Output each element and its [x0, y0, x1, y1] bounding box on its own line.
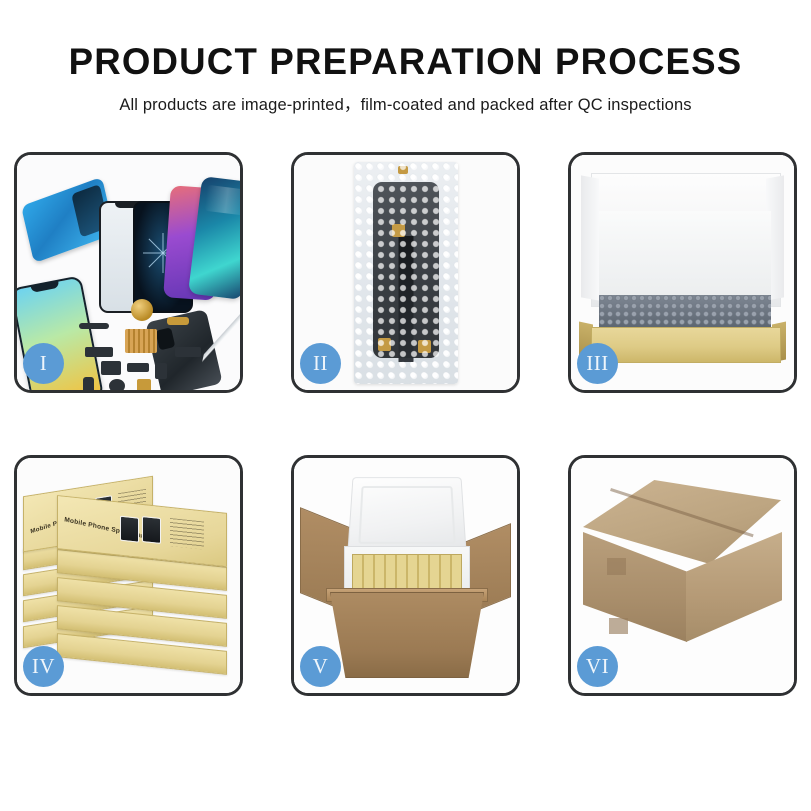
panel-foam-carton[interactable]: V [291, 455, 520, 696]
panel-badge-2: II [300, 343, 341, 384]
connector-icon-tab [398, 166, 408, 174]
lid-flap-left-icon [581, 175, 599, 300]
foam-padding-icon [599, 211, 771, 295]
panel-badge-3: III [577, 343, 618, 384]
page-title: PRODUCT PREPARATION PROCESS [4, 42, 807, 81]
connector-icon-top [392, 224, 405, 237]
header: PRODUCT PREPARATION PROCESS All products… [0, 0, 811, 115]
panel-bubble-wrap[interactable]: II [291, 152, 520, 393]
carton-tape-patch-upper [607, 558, 626, 575]
flex-cable-icon [398, 236, 413, 362]
connector-icon-left [378, 338, 391, 351]
carton-body-icon [330, 592, 484, 678]
ic-chip-icon [125, 329, 157, 353]
panel-badge-6: VI [577, 646, 618, 687]
speaker-mesh-icon [131, 299, 153, 321]
connector-icon-right [418, 340, 431, 353]
spare-parts-cluster [79, 303, 209, 390]
panel-badge-5: V [300, 646, 341, 687]
bubble-wrap-bag-icon [354, 162, 458, 384]
panel-stacked-boxes[interactable]: Mobile Phone Spare Parts Mobile Phone Sp… [14, 455, 243, 696]
panel-badge-4: IV [23, 646, 64, 687]
kraft-box-front-icon [591, 327, 781, 363]
bubble-wrapped-contents-icon [599, 295, 771, 329]
foam-box-lid-icon [347, 477, 466, 554]
panel-badge-1: I [23, 343, 64, 384]
panel-parts-overview[interactable]: I [14, 152, 243, 393]
carton-tape-patch-lower [609, 618, 628, 634]
process-panel-grid: I II [14, 152, 797, 696]
page-subtitle: All products are image-printed，film-coat… [0, 91, 811, 115]
panel-sealed-carton[interactable]: VI [568, 455, 797, 696]
panel-inner-box[interactable]: III [568, 152, 797, 393]
